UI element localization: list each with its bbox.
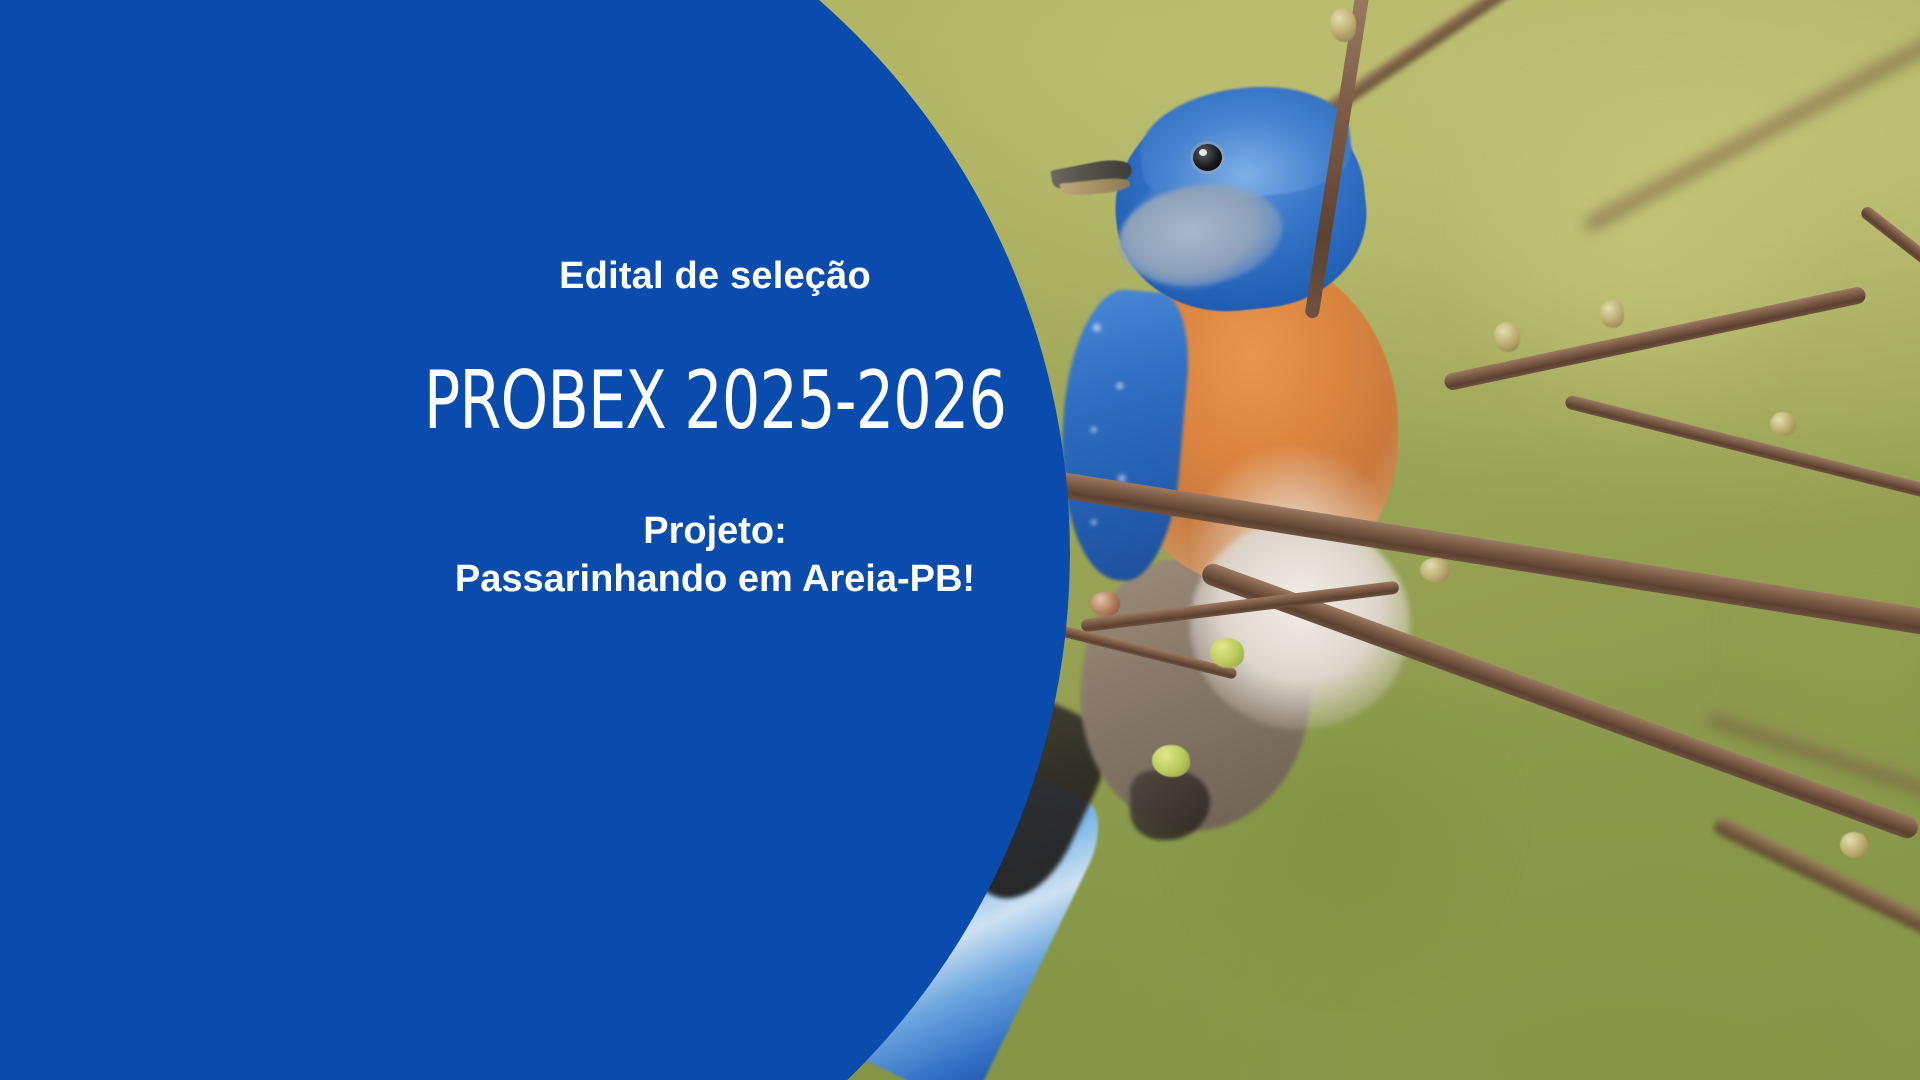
- bird-wing-highlights: [1053, 296, 1185, 565]
- project-name: Passarinhando em Areia-PB!: [365, 555, 1065, 604]
- promotional-banner: Edital de seleção PROBEX 2025-2026 Proje…: [0, 0, 1920, 1080]
- project-block: Projeto: Passarinhando em Areia-PB!: [365, 507, 1065, 604]
- bud-top-twig: [1330, 8, 1356, 42]
- bud-right-b: [1600, 300, 1624, 328]
- bud-right-a: [1494, 322, 1520, 352]
- bud-lower-green: [1152, 745, 1190, 777]
- page-title: PROBEX 2025-2026: [421, 361, 1009, 441]
- bud-red-left: [1090, 592, 1120, 616]
- bird-eye: [1193, 144, 1222, 171]
- bud-mid-branch: [1420, 558, 1450, 582]
- banner-text-block: Edital de seleção PROBEX 2025-2026 Proje…: [365, 255, 1065, 604]
- kicker-text: Edital de seleção: [365, 255, 1065, 299]
- bud-center-green: [1210, 638, 1244, 668]
- project-label: Projeto:: [643, 510, 787, 552]
- bud-right-c: [1770, 412, 1796, 436]
- bud-lower-right: [1840, 832, 1868, 858]
